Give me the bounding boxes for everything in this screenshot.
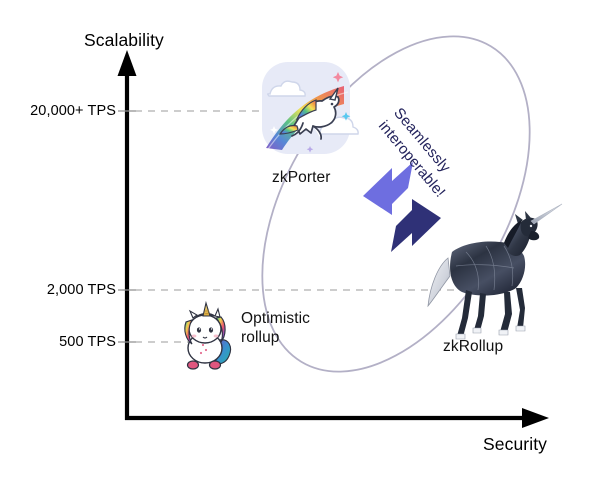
y-axis-title: Scalability xyxy=(84,30,164,51)
x-axis-title: Security xyxy=(483,434,547,455)
diagram-vector-layer xyxy=(0,0,600,481)
x-axis-arrowhead xyxy=(522,408,549,428)
optimistic-label-line-1: Optimistic xyxy=(241,310,310,327)
grouping-ellipse xyxy=(207,0,585,418)
diagram-canvas: Scalability Security 20,000+ TPS 2,000 T… xyxy=(0,0,600,481)
y-tick-label-20000-tps: 20,000+ TPS xyxy=(4,103,116,121)
chibi-unicorn-emoji-icon xyxy=(185,303,231,369)
y-tick-label-500-tps: 500 TPS xyxy=(4,334,116,352)
rainbow-unicorn-sticker-icon xyxy=(262,62,358,154)
node-label-zkrollup: zkRollup xyxy=(443,338,503,357)
optimistic-label-line-2: rollup xyxy=(241,329,280,346)
armored-unicorn-icon xyxy=(428,204,562,339)
node-label-optimistic-rollup: Optimisticrollup xyxy=(241,310,310,348)
y-tick-label-2000-tps: 2,000 TPS xyxy=(4,282,116,300)
node-label-zkporter: zkPorter xyxy=(272,169,331,188)
y-axis-arrowhead xyxy=(118,50,137,76)
